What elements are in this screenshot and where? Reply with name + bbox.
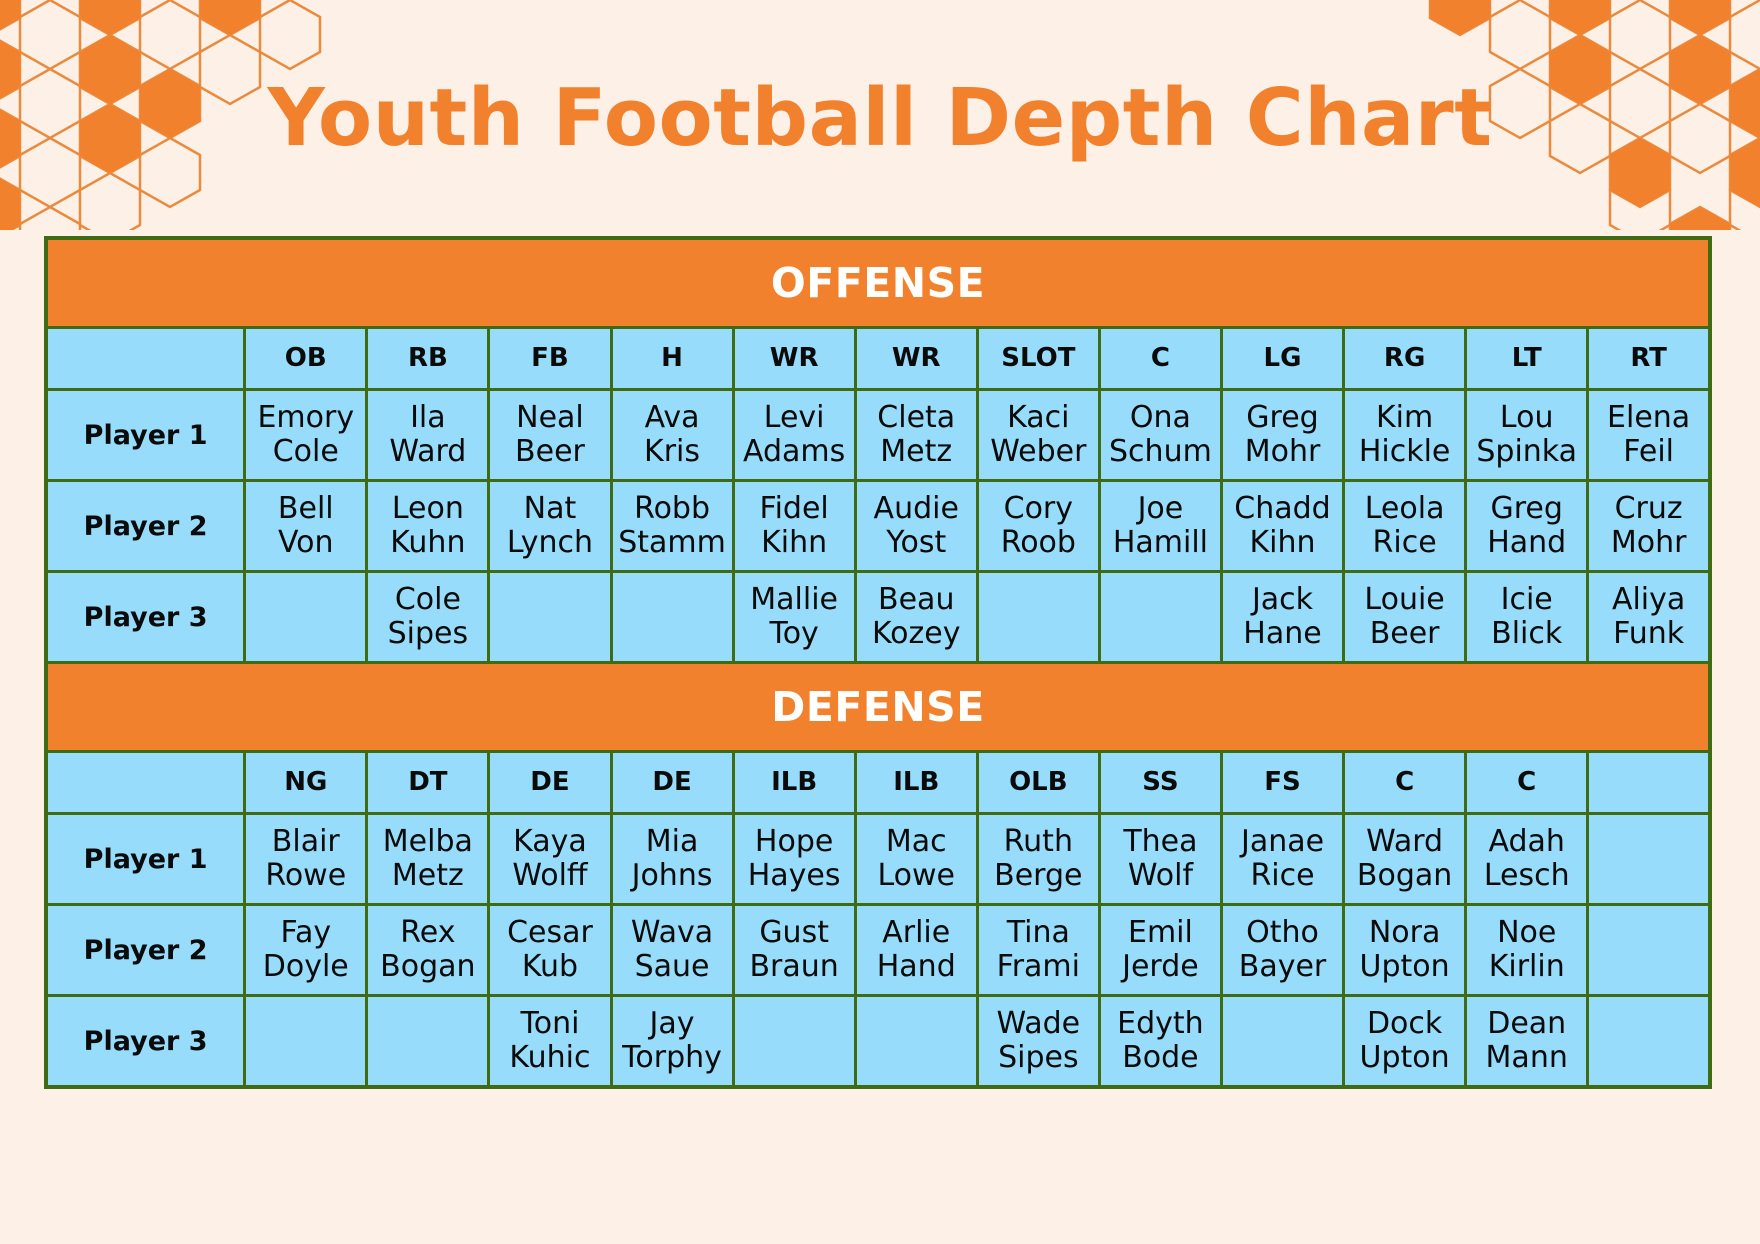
player-last-name: Bayer — [1223, 950, 1342, 985]
position-header-ob-0: OB — [245, 328, 367, 390]
player-first-name: Mallie — [735, 583, 854, 618]
player-name-cell[interactable]: LouSpinka — [1466, 390, 1588, 481]
table-row: Player 3ToniKuhicJayTorphyWadeSipesEdyth… — [46, 996, 1710, 1088]
player-first-name: Hope — [735, 825, 854, 860]
player-name-cell[interactable]: JanaeRice — [1221, 814, 1343, 905]
corner-cell — [46, 328, 245, 390]
player-name-cell[interactable]: TheaWolf — [1099, 814, 1221, 905]
empty-cell[interactable] — [1588, 996, 1710, 1088]
player-last-name: Johns — [613, 859, 732, 894]
player-first-name: Kaya — [490, 825, 609, 860]
empty-cell[interactable] — [489, 572, 611, 663]
player-name-cell[interactable]: CesarKub — [489, 905, 611, 996]
player-last-name: Hamill — [1101, 526, 1220, 561]
player-last-name: Weber — [979, 435, 1098, 470]
player-last-name: Lowe — [857, 859, 976, 894]
player-first-name: Chadd — [1223, 492, 1342, 527]
player-last-name: Kirlin — [1467, 950, 1586, 985]
row-label-player-1: Player 1 — [46, 390, 245, 481]
player-name-cell[interactable]: RobbStamm — [611, 481, 733, 572]
player-last-name: Beer — [1345, 617, 1464, 652]
player-first-name: Rex — [368, 916, 487, 951]
table-row: Player 2BellVonLeonKuhnNatLynchRobbStamm… — [46, 481, 1710, 572]
player-first-name: Dock — [1345, 1007, 1464, 1042]
player-name-cell[interactable]: OthoBayer — [1221, 905, 1343, 996]
empty-cell[interactable] — [1588, 905, 1710, 996]
player-last-name: Kris — [613, 435, 732, 470]
player-first-name: Levi — [735, 401, 854, 436]
player-last-name: Kihn — [735, 526, 854, 561]
player-last-name: Toy — [735, 617, 854, 652]
player-name-cell[interactable]: WadeSipes — [977, 996, 1099, 1088]
player-first-name: Aliya — [1589, 583, 1708, 618]
player-name-cell[interactable]: NealBeer — [489, 390, 611, 481]
player-first-name: Ava — [613, 401, 732, 436]
player-last-name: Bogan — [368, 950, 487, 985]
player-name-cell[interactable]: BeauKozey — [855, 572, 977, 663]
player-name-cell[interactable]: IlaWard — [367, 390, 489, 481]
page-title: Youth Football Depth Chart — [267, 72, 1492, 164]
player-last-name: Schum — [1101, 435, 1220, 470]
player-last-name: Hand — [857, 950, 976, 985]
row-label-player-1: Player 1 — [46, 814, 245, 905]
player-last-name: Spinka — [1467, 435, 1586, 470]
player-name-cell[interactable]: MallieToy — [733, 572, 855, 663]
player-last-name: Berge — [979, 859, 1098, 894]
position-header-row: OBRBFBHWRWRSLOTCLGRGLTRT — [46, 328, 1710, 390]
player-name-cell[interactable]: MacLowe — [855, 814, 977, 905]
empty-cell[interactable] — [855, 996, 977, 1088]
player-last-name: Upton — [1345, 950, 1464, 985]
player-last-name: Hickle — [1345, 435, 1464, 470]
player-name-cell[interactable]: IcieBlick — [1466, 572, 1588, 663]
player-first-name: Louie — [1345, 583, 1464, 618]
player-last-name: Hayes — [735, 859, 854, 894]
player-last-name: Frami — [979, 950, 1098, 985]
player-last-name: Kuhn — [368, 526, 487, 561]
player-first-name: Bell — [246, 492, 365, 527]
player-name-cell[interactable]: KaciWeber — [977, 390, 1099, 481]
player-name-cell[interactable]: KayaWolff — [489, 814, 611, 905]
player-last-name: Adams — [735, 435, 854, 470]
player-name-cell[interactable]: MiaJohns — [611, 814, 733, 905]
player-last-name: Torphy — [613, 1041, 732, 1076]
player-name-cell[interactable]: FayDoyle — [245, 905, 367, 996]
player-first-name: Edyth — [1101, 1007, 1220, 1042]
player-last-name: Kihn — [1223, 526, 1342, 561]
empty-cell[interactable] — [245, 996, 367, 1088]
player-last-name: Hane — [1223, 617, 1342, 652]
player-name-cell[interactable]: KimHickle — [1344, 390, 1466, 481]
empty-cell[interactable] — [733, 996, 855, 1088]
player-first-name: Robb — [613, 492, 732, 527]
player-first-name: Audie — [857, 492, 976, 527]
position-header-h-3: H — [611, 328, 733, 390]
player-first-name: Lou — [1467, 401, 1586, 436]
player-name-cell[interactable]: TinaFrami — [977, 905, 1099, 996]
player-last-name: Beer — [490, 435, 609, 470]
player-last-name: Von — [246, 526, 365, 561]
player-first-name: Jay — [613, 1007, 732, 1042]
player-first-name: Mac — [857, 825, 976, 860]
player-name-cell[interactable]: WardBogan — [1344, 814, 1466, 905]
player-first-name: Kaci — [979, 401, 1098, 436]
player-name-cell[interactable]: ColeSipes — [367, 572, 489, 663]
player-first-name: Kim — [1345, 401, 1464, 436]
player-last-name: Wolff — [490, 859, 609, 894]
player-name-cell[interactable]: JackHane — [1221, 572, 1343, 663]
player-name-cell[interactable]: NoraUpton — [1344, 905, 1466, 996]
player-first-name: Blair — [246, 825, 365, 860]
position-header-c-9: C — [1344, 752, 1466, 814]
position-header-lt-10: LT — [1466, 328, 1588, 390]
player-name-cell[interactable]: LeolaRice — [1344, 481, 1466, 572]
player-name-cell[interactable]: LeviAdams — [733, 390, 855, 481]
player-name-cell[interactable]: AliyaFunk — [1588, 572, 1710, 663]
player-last-name: Mohr — [1589, 526, 1708, 561]
empty-cell[interactable] — [1099, 572, 1221, 663]
position-header-ng-0: NG — [245, 752, 367, 814]
table-row: Player 2FayDoyleRexBoganCesarKubWavaSaue… — [46, 905, 1710, 996]
player-last-name: Blick — [1467, 617, 1586, 652]
player-first-name: Cruz — [1589, 492, 1708, 527]
player-first-name: Elena — [1589, 401, 1708, 436]
player-last-name: Mann — [1467, 1041, 1586, 1076]
player-first-name: Arlie — [857, 916, 976, 951]
player-first-name: Greg — [1223, 401, 1342, 436]
player-last-name: Cole — [246, 435, 365, 470]
player-first-name: Ward — [1345, 825, 1464, 860]
player-last-name: Rice — [1345, 526, 1464, 561]
empty-cell[interactable] — [1221, 996, 1343, 1088]
empty-cell[interactable] — [245, 572, 367, 663]
player-last-name: Sipes — [368, 617, 487, 652]
player-first-name: Gust — [735, 916, 854, 951]
player-last-name: Mohr — [1223, 435, 1342, 470]
position-header-rb-1: RB — [367, 328, 489, 390]
player-first-name: Neal — [490, 401, 609, 436]
player-last-name: Bogan — [1345, 859, 1464, 894]
player-name-cell[interactable]: LeonKuhn — [367, 481, 489, 572]
player-first-name: Noe — [1467, 916, 1586, 951]
section-band-offense: OFFENSE — [46, 238, 1710, 328]
player-first-name: Joe — [1101, 492, 1220, 527]
player-name-cell[interactable]: ChaddKihn — [1221, 481, 1343, 572]
player-first-name: Dean — [1467, 1007, 1586, 1042]
player-first-name: Cleta — [857, 401, 976, 436]
player-first-name: Beau — [857, 583, 976, 618]
position-header-c-7: C — [1099, 328, 1221, 390]
player-first-name: Thea — [1101, 825, 1220, 860]
player-name-cell[interactable]: EmilJerde — [1099, 905, 1221, 996]
table-row: Player 1EmoryColeIlaWardNealBeerAvaKrisL… — [46, 390, 1710, 481]
corner-cell — [46, 752, 245, 814]
position-header-rg-9: RG — [1344, 328, 1466, 390]
player-last-name: Wolf — [1101, 859, 1220, 894]
empty-cell[interactable] — [977, 572, 1099, 663]
player-name-cell[interactable]: GregMohr — [1221, 390, 1343, 481]
player-name-cell[interactable]: RuthBerge — [977, 814, 1099, 905]
player-first-name: Mia — [613, 825, 732, 860]
position-header-de-2: DE — [489, 752, 611, 814]
section-band-defense: DEFENSE — [46, 663, 1710, 752]
player-first-name: Emory — [246, 401, 365, 436]
position-header-ilb-4: ILB — [733, 752, 855, 814]
player-last-name: Ward — [368, 435, 487, 470]
player-name-cell[interactable]: AdahLesch — [1466, 814, 1588, 905]
empty-cell[interactable] — [1588, 814, 1710, 905]
player-first-name: Emil — [1101, 916, 1220, 951]
player-last-name: Sipes — [979, 1041, 1098, 1076]
table-row: Player 3ColeSipesMallieToyBeauKozeyJackH… — [46, 572, 1710, 663]
player-last-name: Kub — [490, 950, 609, 985]
player-name-cell[interactable]: GregHand — [1466, 481, 1588, 572]
player-first-name: Wade — [979, 1007, 1098, 1042]
player-name-cell[interactable]: FidelKihn — [733, 481, 855, 572]
player-name-cell[interactable]: MelbaMetz — [367, 814, 489, 905]
position-header-dt-1: DT — [367, 752, 489, 814]
section-band-row: DEFENSE — [46, 663, 1710, 752]
row-label-player-3: Player 3 — [46, 996, 245, 1088]
player-name-cell[interactable]: AvaKris — [611, 390, 733, 481]
position-header-de-3: DE — [611, 752, 733, 814]
table-row: Player 1BlairRoweMelbaMetzKayaWolffMiaJo… — [46, 814, 1710, 905]
player-name-cell[interactable]: ArlieHand — [855, 905, 977, 996]
player-first-name: Nora — [1345, 916, 1464, 951]
player-first-name: Leon — [368, 492, 487, 527]
player-first-name: Cesar — [490, 916, 609, 951]
player-name-cell[interactable]: EmoryCole — [245, 390, 367, 481]
position-header-ss-7: SS — [1099, 752, 1221, 814]
player-last-name: Funk — [1589, 617, 1708, 652]
player-first-name: Ruth — [979, 825, 1098, 860]
player-name-cell[interactable]: WavaSaue — [611, 905, 733, 996]
position-header-rt-11: RT — [1588, 328, 1710, 390]
player-name-cell[interactable]: CoryRoob — [977, 481, 1099, 572]
player-name-cell[interactable]: ElenaFeil — [1588, 390, 1710, 481]
player-first-name: Fay — [246, 916, 365, 951]
player-first-name: Leola — [1345, 492, 1464, 527]
player-first-name: Toni — [490, 1007, 609, 1042]
player-first-name: Janae — [1223, 825, 1342, 860]
depth-chart-table: OFFENSEOBRBFBHWRWRSLOTCLGRGLTRTPlayer 1E… — [44, 236, 1712, 1089]
position-header-row: NGDTDEDEILBILBOLBSSFSCC — [46, 752, 1710, 814]
player-name-cell[interactable]: CletaMetz — [855, 390, 977, 481]
player-last-name: Roob — [979, 526, 1098, 561]
player-last-name: Metz — [368, 859, 487, 894]
player-last-name: Saue — [613, 950, 732, 985]
row-label-player-2: Player 2 — [46, 905, 245, 996]
player-last-name: Kuhic — [490, 1041, 609, 1076]
position-header-ilb-5: ILB — [855, 752, 977, 814]
player-last-name: Jerde — [1101, 950, 1220, 985]
position-header-empty-11 — [1588, 752, 1710, 814]
player-name-cell[interactable]: RexBogan — [367, 905, 489, 996]
player-name-cell[interactable]: BlairRowe — [245, 814, 367, 905]
player-last-name: Kozey — [857, 617, 976, 652]
position-header-slot-6: SLOT — [977, 328, 1099, 390]
depth-chart-container: OFFENSEOBRBFBHWRWRSLOTCLGRGLTRTPlayer 1E… — [44, 236, 1712, 1089]
row-label-player-2: Player 2 — [46, 481, 245, 572]
player-name-cell[interactable]: JayTorphy — [611, 996, 733, 1088]
player-first-name: Icie — [1467, 583, 1586, 618]
player-last-name: Rowe — [246, 859, 365, 894]
player-first-name: Melba — [368, 825, 487, 860]
player-last-name: Lynch — [490, 526, 609, 561]
title-bar: Youth Football Depth Chart — [0, 0, 1760, 235]
player-last-name: Upton — [1345, 1041, 1464, 1076]
player-name-cell[interactable]: HopeHayes — [733, 814, 855, 905]
position-header-wr-5: WR — [855, 328, 977, 390]
empty-cell[interactable] — [367, 996, 489, 1088]
player-first-name: Jack — [1223, 583, 1342, 618]
player-name-cell[interactable]: AudieYost — [855, 481, 977, 572]
player-last-name: Rice — [1223, 859, 1342, 894]
position-header-c-10: C — [1466, 752, 1588, 814]
position-header-olb-6: OLB — [977, 752, 1099, 814]
player-name-cell[interactable]: NoeKirlin — [1466, 905, 1588, 996]
player-last-name: Yost — [857, 526, 976, 561]
player-last-name: Lesch — [1467, 859, 1586, 894]
player-first-name: Nat — [490, 492, 609, 527]
player-name-cell[interactable]: CruzMohr — [1588, 481, 1710, 572]
player-name-cell[interactable]: DeanMann — [1466, 996, 1588, 1088]
player-first-name: Otho — [1223, 916, 1342, 951]
player-first-name: Cory — [979, 492, 1098, 527]
position-header-wr-4: WR — [733, 328, 855, 390]
player-first-name: Tina — [979, 916, 1098, 951]
player-name-cell[interactable]: DockUpton — [1344, 996, 1466, 1088]
player-name-cell[interactable]: ToniKuhic — [489, 996, 611, 1088]
player-last-name: Braun — [735, 950, 854, 985]
player-last-name: Hand — [1467, 526, 1586, 561]
empty-cell[interactable] — [611, 572, 733, 663]
player-last-name: Metz — [857, 435, 976, 470]
player-last-name: Stamm — [613, 526, 732, 561]
row-label-player-3: Player 3 — [46, 572, 245, 663]
position-header-lg-8: LG — [1221, 328, 1343, 390]
player-last-name: Feil — [1589, 435, 1708, 470]
player-first-name: Greg — [1467, 492, 1586, 527]
player-first-name: Cole — [368, 583, 487, 618]
player-name-cell[interactable]: OnaSchum — [1099, 390, 1221, 481]
player-first-name: Ona — [1101, 401, 1220, 436]
position-header-fb-2: FB — [489, 328, 611, 390]
player-last-name: Bode — [1101, 1041, 1220, 1076]
player-name-cell[interactable]: LouieBeer — [1344, 572, 1466, 663]
player-name-cell[interactable]: JoeHamill — [1099, 481, 1221, 572]
player-first-name: Ila — [368, 401, 487, 436]
player-first-name: Wava — [613, 916, 732, 951]
player-name-cell[interactable]: NatLynch — [489, 481, 611, 572]
player-name-cell[interactable]: BellVon — [245, 481, 367, 572]
player-last-name: Doyle — [246, 950, 365, 985]
player-first-name: Adah — [1467, 825, 1586, 860]
position-header-fs-8: FS — [1221, 752, 1343, 814]
section-band-row: OFFENSE — [46, 238, 1710, 328]
player-name-cell[interactable]: EdythBode — [1099, 996, 1221, 1088]
player-first-name: Fidel — [735, 492, 854, 527]
player-name-cell[interactable]: GustBraun — [733, 905, 855, 996]
